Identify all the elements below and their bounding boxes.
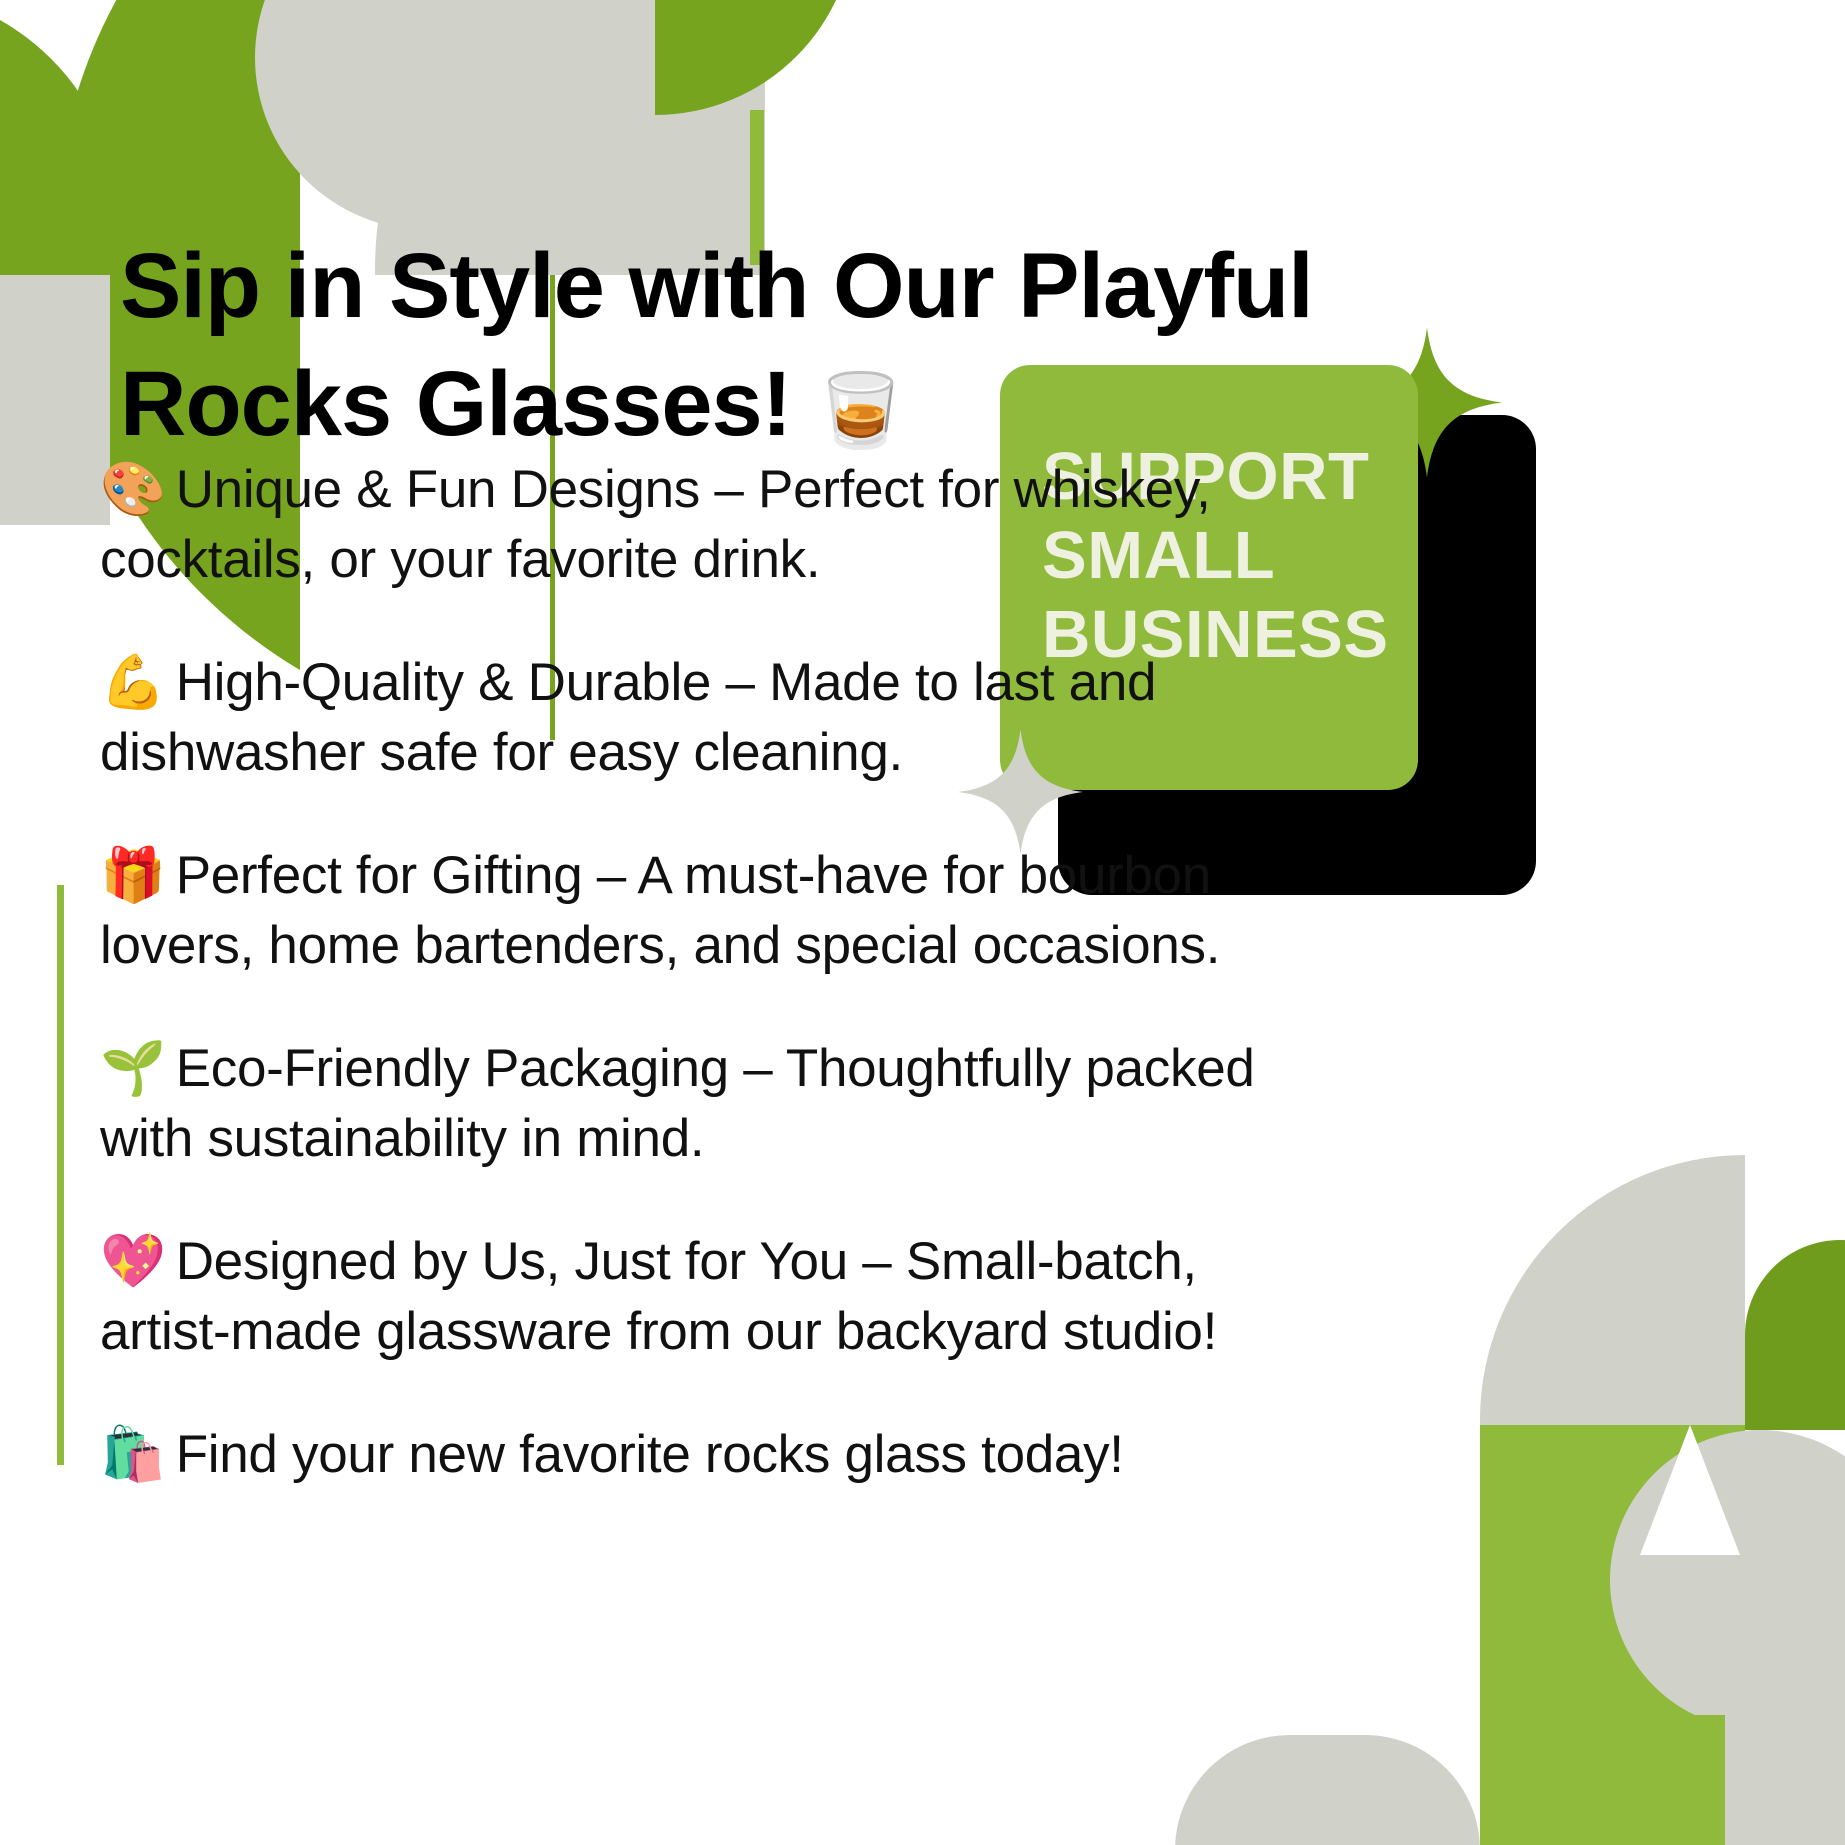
list-item-text: Designed by Us, Just for You – Small-bat… xyxy=(100,1232,1217,1361)
list-item-text: High-Quality & Durable – Made to last an… xyxy=(100,653,1156,782)
tumbler-glass-emoji: 🥃 xyxy=(816,371,905,451)
seedling-emoji: 🌱 xyxy=(100,1039,166,1098)
deco-gray-quarter-bottom xyxy=(1480,1155,1745,1425)
deco-gray-circle-bottom xyxy=(1610,1430,1845,1730)
list-item-text: Unique & Fun Designs – Perfect for whisk… xyxy=(100,460,1211,589)
deco-green-left-lobe xyxy=(0,0,120,460)
feature-list: 🎨Unique & Fun Designs – Perfect for whis… xyxy=(100,455,1260,1542)
deco-gray-square xyxy=(0,275,110,525)
deco-green-quarter-round xyxy=(655,0,855,115)
list-item: 🎁Perfect for Gifting – A must-have for b… xyxy=(100,841,1290,982)
deco-green-dome-bottom xyxy=(1745,1240,1845,1430)
deco-gray-circle xyxy=(255,0,600,230)
flexed-biceps-emoji: 💪 xyxy=(100,653,166,712)
list-item: 🌱Eco-Friendly Packaging – Thoughtfully p… xyxy=(100,1034,1290,1175)
headline-line-2: Rocks Glasses! xyxy=(120,353,791,455)
deco-white-triangle xyxy=(1640,1425,1740,1555)
list-item: 💪High-Quality & Durable – Made to last a… xyxy=(100,648,1260,789)
sparkling-heart-emoji: 💖 xyxy=(100,1232,166,1291)
artist-palette-emoji: 🎨 xyxy=(100,460,166,519)
deco-gray-footer-block xyxy=(1725,1690,1845,1845)
deco-left-vertical-rule xyxy=(57,885,64,1465)
list-item-text: Find your new favorite rocks glass today… xyxy=(176,1425,1124,1484)
deco-gray-dome-footer xyxy=(1175,1735,1480,1845)
shopping-bags-emoji: 🛍️ xyxy=(100,1425,166,1484)
list-item-text: Perfect for Gifting – A must-have for bo… xyxy=(100,846,1220,975)
list-item-text: Eco-Friendly Packaging – Thoughtfully pa… xyxy=(100,1039,1255,1168)
deco-green-footer-block xyxy=(1480,1715,1730,1845)
list-item: 🎨Unique & Fun Designs – Perfect for whis… xyxy=(100,455,1260,596)
page-title: Sip in Style with Our Playful Rocks Glas… xyxy=(120,228,1320,464)
promotional-poster: Sip in Style with Our Playful Rocks Glas… xyxy=(0,0,1845,1845)
list-item: 💖Designed by Us, Just for You – Small-ba… xyxy=(100,1227,1290,1368)
wrapped-gift-emoji: 🎁 xyxy=(100,846,166,905)
list-item: 🛍️Find your new favorite rocks glass tod… xyxy=(100,1420,1260,1490)
headline-line-1: Sip in Style with Our Playful xyxy=(120,235,1313,337)
deco-green-block-bottom xyxy=(1480,1425,1745,1715)
